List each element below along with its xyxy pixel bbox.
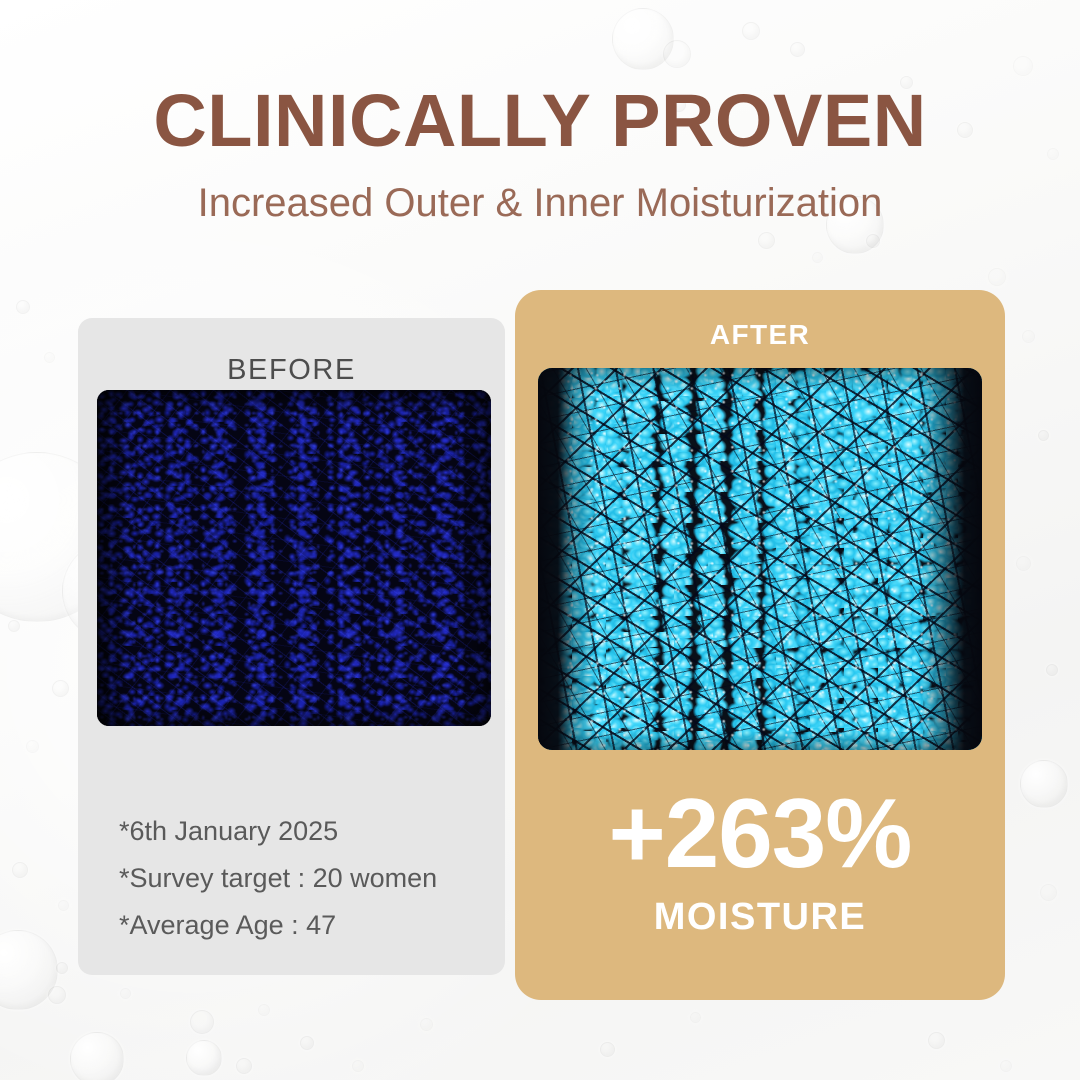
moisture-increase-label: MOISTURE [515, 898, 1005, 936]
page-title: CLINICALLY PROVEN [0, 84, 1080, 158]
before-micrograph-image [97, 390, 491, 726]
note-average-age: *Average Age : 47 [119, 912, 437, 939]
moisture-increase-value: +263% [515, 784, 1005, 882]
after-micrograph-image [538, 368, 982, 750]
before-panel: BEFORE *6th January 2025 *Survey target … [78, 318, 505, 975]
after-label: AFTER [515, 319, 1005, 351]
note-date: *6th January 2025 [119, 818, 437, 845]
before-label: BEFORE [78, 354, 505, 387]
page-subtitle: Increased Outer & Inner Moisturization [0, 183, 1080, 223]
after-panel: AFTER +263% MOISTURE [515, 290, 1005, 1000]
note-survey-target: *Survey target : 20 women [119, 865, 437, 892]
survey-notes: *6th January 2025 *Survey target : 20 wo… [119, 818, 437, 959]
infographic-canvas: CLINICALLY PROVEN Increased Outer & Inne… [0, 0, 1080, 1080]
